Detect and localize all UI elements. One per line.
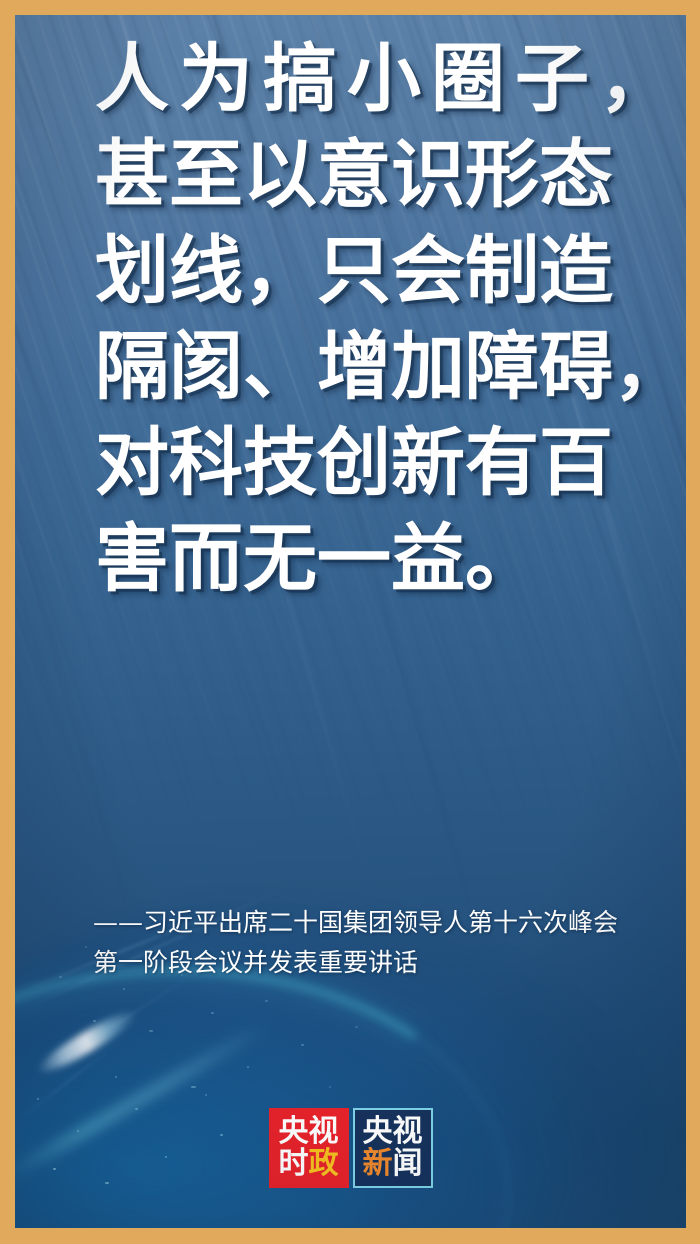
logo-char: 视 [309, 1117, 339, 1147]
logo-bar: 央 视 时 政 央 视 新 闻 [15, 1108, 686, 1188]
headline-line-3: 划线，只会制造 [95, 223, 638, 319]
headline-quote: 人为搞小圈子， 甚至以意识形态 划线，只会制造 隔阂、增加障碍， 对科技创新有百… [95, 31, 638, 607]
poster-canvas: 人为搞小圈子， 甚至以意识形态 划线，只会制造 隔阂、增加障碍， 对科技创新有百… [15, 15, 686, 1228]
logo-row-top: 央 视 [279, 1117, 339, 1147]
logo-row-bottom: 时 政 [279, 1149, 339, 1179]
headline-line-2: 甚至以意识形态 [95, 127, 638, 223]
logo-row-top: 央 视 [363, 1117, 423, 1147]
logo-row-bottom: 新 闻 [363, 1149, 423, 1179]
logo-char: 央 [363, 1117, 393, 1147]
logo-char: 新 [363, 1149, 393, 1179]
headline-line-1: 人为搞小圈子， [95, 31, 638, 127]
headline-line-4: 隔阂、增加障碍， [95, 319, 638, 415]
logo-char: 视 [393, 1117, 423, 1147]
attribution: ——习近平出席二十国集团领导人第十六次峰会 第一阶段会议并发表重要讲话 [93, 903, 638, 983]
logo-cctv-shizheng[interactable]: 央 视 时 政 [269, 1108, 349, 1188]
headline-line-6: 害而无一益。 [95, 511, 638, 607]
headline-line-5: 对科技创新有百 [95, 415, 638, 511]
logo-char: 央 [279, 1117, 309, 1147]
poster-frame: 人为搞小圈子， 甚至以意识形态 划线，只会制造 隔阂、增加障碍， 对科技创新有百… [0, 0, 700, 1244]
logo-char: 闻 [393, 1149, 423, 1179]
logo-char: 政 [309, 1149, 339, 1179]
logo-cctv-xinwen[interactable]: 央 视 新 闻 [353, 1108, 433, 1188]
logo-char: 时 [279, 1149, 309, 1179]
attribution-line-1: ——习近平出席二十国集团领导人第十六次峰会 [93, 903, 638, 943]
attribution-line-2: 第一阶段会议并发表重要讲话 [93, 943, 638, 983]
